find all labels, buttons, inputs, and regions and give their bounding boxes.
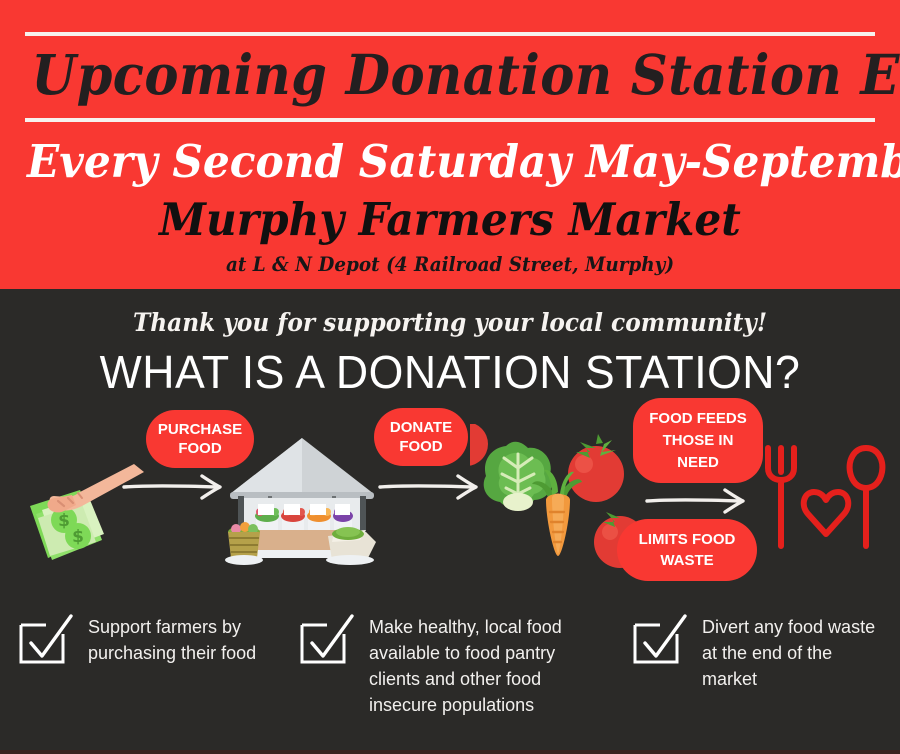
checkbox-checked-icon [16, 612, 74, 670]
badge-food-feeds-line3: NEED [677, 454, 719, 471]
bottom-stripe [0, 750, 900, 754]
checkbox-checked-icon [297, 612, 355, 670]
banner-subtitle-schedule: Every Second Saturday May-September [27, 131, 873, 193]
section-heading: WHAT IS A DONATION STATION? [14, 345, 887, 399]
banner-rule-bottom [25, 118, 875, 122]
badge-donate-food-line2: FOOD [399, 438, 442, 455]
checklist-item-healthy-local-food: Make healthy, local food available to fo… [297, 612, 597, 718]
checklist-item-divert-food-waste: Divert any food waste at the end of the … [630, 612, 890, 692]
badge-limits-food-waste-line1: LIMITS FOOD [639, 531, 736, 548]
page-title: Upcoming Donation Station Events [32, 36, 869, 114]
donation-station-flyer: Upcoming Donation Station Events Every S… [0, 0, 900, 754]
banner-address: at L & N Depot (4 Railroad Street, Murph… [36, 251, 864, 277]
badge-food-feeds-line1: FOOD FEEDS [649, 410, 747, 427]
arrow-market-to-vegetables [378, 472, 482, 507]
fork-heart-spoon-icon [762, 442, 890, 559]
thank-you-message: Thank you for supporting your local comm… [32, 307, 869, 339]
checklist-item-healthy-local-food-text: Make healthy, local food available to fo… [369, 612, 597, 718]
badge-limits-food-waste-line2: WASTE [660, 552, 713, 569]
vegetables-icon [470, 424, 640, 589]
badge-food-feeds-those-in-need: FOOD FEEDS THOSE IN NEED [633, 398, 763, 483]
badge-donate-food-line1: DONATE [390, 419, 452, 436]
checklist-item-support-farmers-text: Support farmers by purchasing their food [88, 612, 286, 666]
badge-limits-food-waste: LIMITS FOOD WASTE [617, 519, 757, 581]
checkbox-checked-icon [630, 612, 688, 670]
badge-food-feeds-line2: THOSE IN [663, 432, 734, 449]
badge-purchase-food-line1: PURCHASE [158, 421, 242, 438]
banner-subtitle-venue: Murphy Farmers Market [27, 189, 873, 251]
arrow-vegetables-to-utensils [645, 486, 749, 521]
checklist-item-support-farmers: Support farmers by purchasing their food [16, 612, 286, 670]
badge-donate-food: DONATE FOOD [374, 408, 468, 466]
arrow-purchase-to-market [122, 472, 226, 507]
badge-purchase-food-line2: FOOD [178, 440, 221, 457]
svg-text:$: $ [72, 527, 84, 547]
badge-purchase-food: PURCHASE FOOD [146, 410, 254, 468]
checklist-item-divert-food-waste-text: Divert any food waste at the end of the … [702, 612, 890, 692]
